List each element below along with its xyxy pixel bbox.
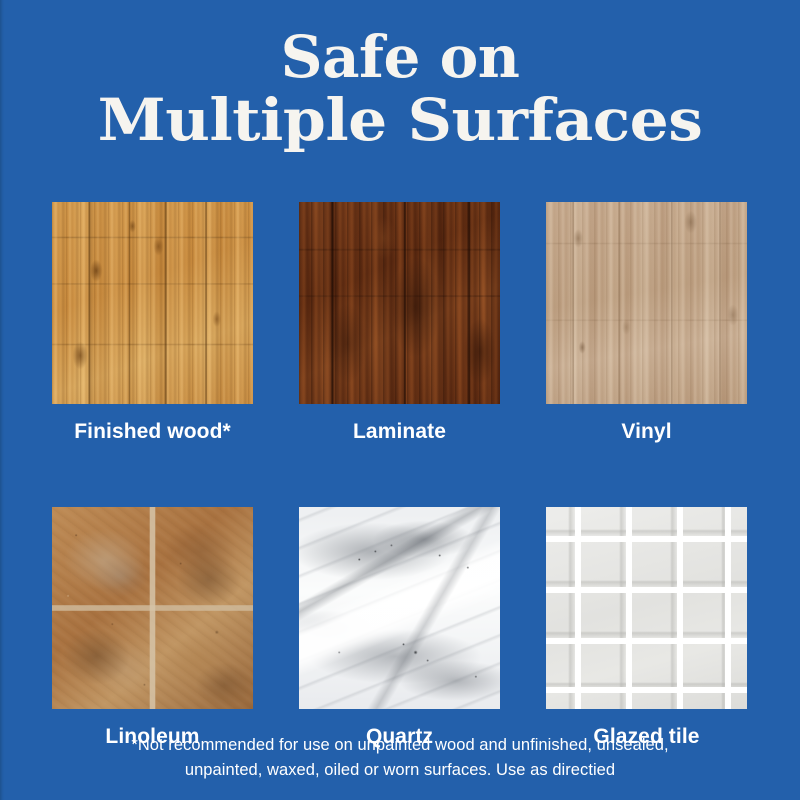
footnote-line-2: unpainted, waxed, oiled or worn surfaces…	[40, 758, 760, 783]
finished-wood-texture	[52, 202, 253, 404]
surface-label-laminate: Laminate	[299, 404, 500, 444]
vinyl-texture	[546, 202, 747, 404]
surface-item-glazed-tile: Glazed tile	[546, 507, 747, 749]
footnote-line-1: *Not recommended for use on unpainted wo…	[40, 733, 760, 758]
glazed-tile-texture	[546, 507, 747, 709]
swatch-quartz	[299, 507, 500, 709]
quartz-texture	[299, 507, 500, 709]
safe-on-multiple-surfaces-poster: Safe on Multiple Surfaces Finished wood*…	[0, 0, 800, 800]
surface-label-vinyl: Vinyl	[546, 404, 747, 444]
surface-item-finished-wood: Finished wood*	[52, 202, 253, 444]
swatch-finished-wood	[52, 202, 253, 404]
surface-item-laminate: Laminate	[299, 202, 500, 444]
swatch-vinyl	[546, 202, 747, 404]
surface-label-finished-wood: Finished wood*	[52, 404, 253, 444]
surface-item-linoleum: Linoleum	[52, 507, 253, 749]
swatch-laminate	[299, 202, 500, 404]
surface-item-quartz: Quartz	[299, 507, 500, 749]
footnote: *Not recommended for use on unpainted wo…	[40, 733, 760, 783]
surface-item-vinyl: Vinyl	[546, 202, 747, 444]
swatch-linoleum	[52, 507, 253, 709]
laminate-texture	[299, 202, 500, 404]
page-title: Safe on Multiple Surfaces	[0, 26, 800, 152]
linoleum-texture	[52, 507, 253, 709]
surface-grid: Finished wood* Laminate Vinyl Linoleum Q	[52, 202, 748, 749]
page-title-line-2: Multiple Surfaces	[0, 88, 800, 152]
page-title-line-1: Safe on	[0, 26, 800, 88]
swatch-glazed-tile	[546, 507, 747, 709]
